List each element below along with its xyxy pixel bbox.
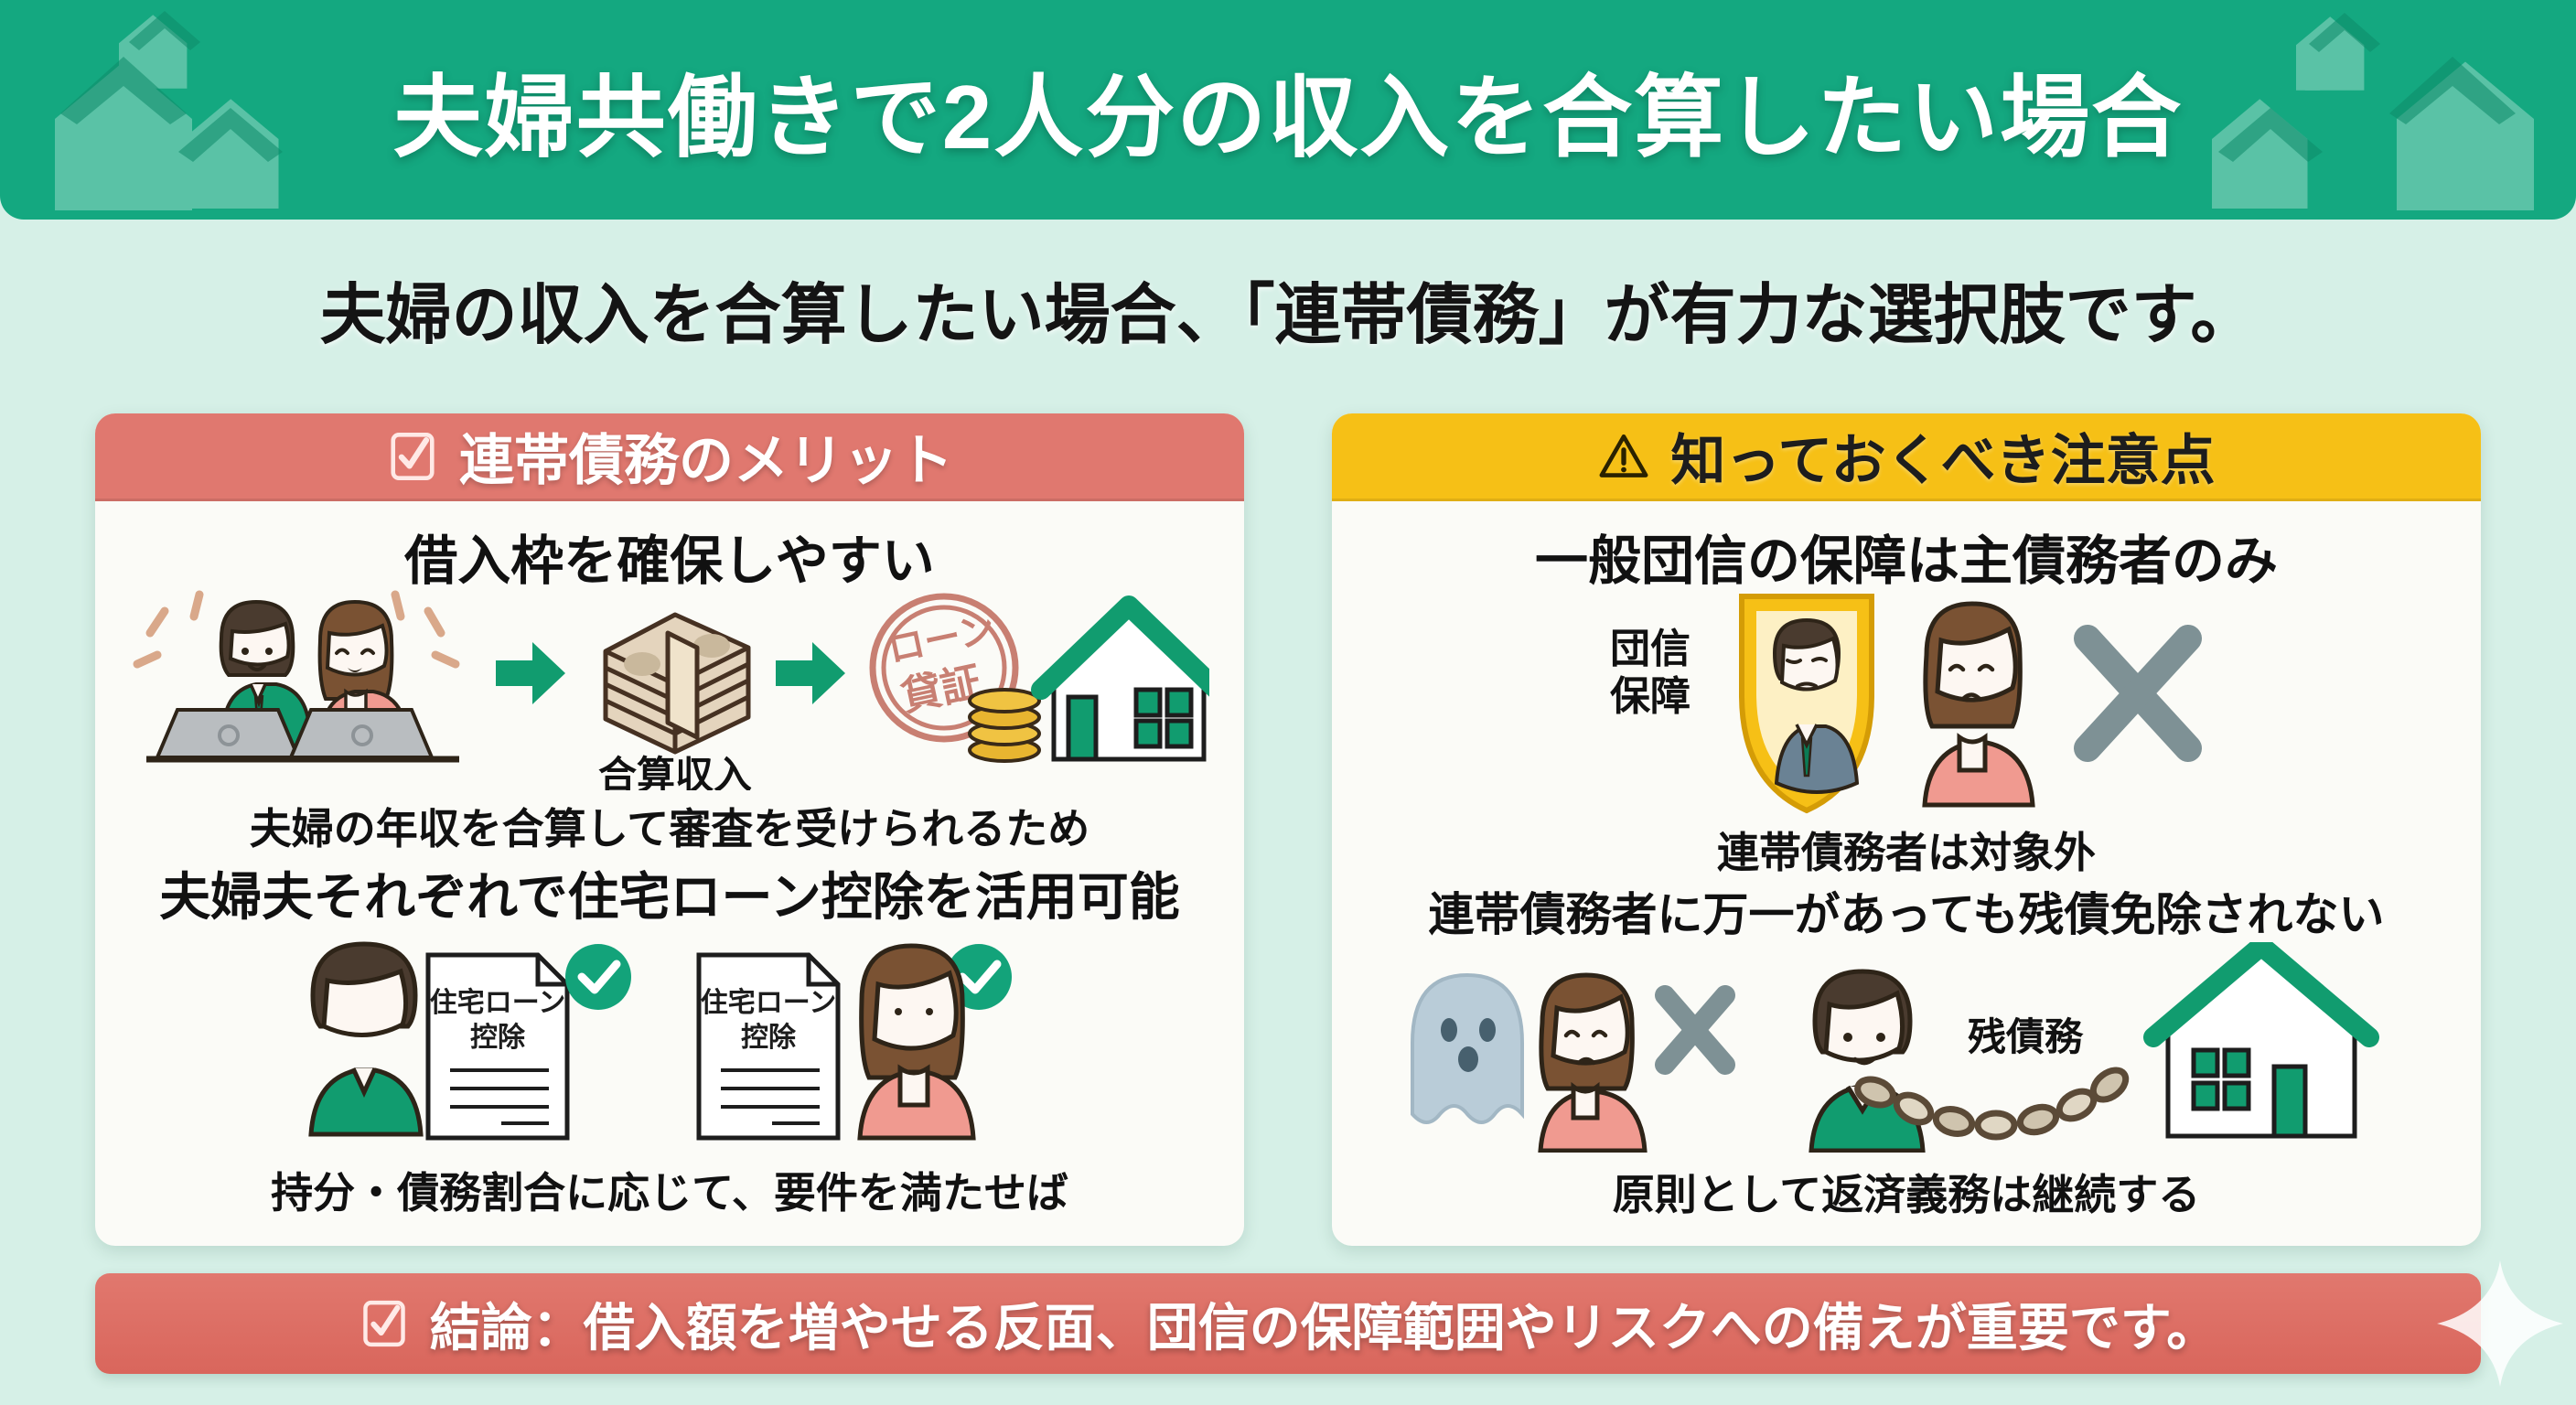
- caution-point-2-illustration: 残債務: [1332, 942, 2481, 1153]
- svg-text:保障: 保障: [1610, 674, 1690, 719]
- header-banner: 夫婦共働きで2人分の収入を合算したい場合: [0, 0, 2576, 220]
- svg-text:貸証: 貸証: [897, 660, 985, 720]
- checkbox-check-icon: [386, 430, 439, 483]
- conclusion-bar: 結論：借入額を増やせる反面、団信の保障範囲やリスクへの備えが重要です。: [95, 1273, 2481, 1374]
- man-chained-icon: [1811, 971, 1923, 1151]
- coins-icon: [970, 690, 1039, 761]
- document-icon: 住宅ローン 控除: [699, 955, 838, 1138]
- merit-point-1-caption: 夫婦の年収を合算して審査を受けられるため: [95, 796, 1244, 856]
- merit-point-1-illustration: ローン 貸証: [95, 580, 1244, 790]
- card-merit-body: 借入枠を確保しやすい: [95, 501, 1244, 1246]
- merit-point-2-caption: 持分・債務割合に応じて、要件を満たせば: [95, 1160, 1244, 1220]
- two-persons-with-deduction-documents-icon: 住宅ローン 控除: [285, 924, 1054, 1153]
- sad-woman-icon: [1925, 604, 2033, 805]
- svg-text:団信: 団信: [1610, 627, 1690, 671]
- house-icon: [1041, 606, 1209, 759]
- ghost-icon: [1412, 975, 1522, 1122]
- caution-point-1-heading: 一般団信の保障は主債務者のみ: [1332, 518, 2481, 595]
- card-merit-header: 連帯債務のメリット: [95, 413, 1244, 501]
- warning-triangle-icon: [1597, 430, 1650, 483]
- merit-point-2-heading: 夫婦夫それぞれで住宅ローン控除を活用可能: [95, 856, 1244, 930]
- house-icon: [2153, 946, 2369, 1136]
- page-title: 夫婦共働きで2人分の収入を合算したい場合: [0, 0, 2576, 220]
- svg-text:合算収入: 合算収入: [598, 754, 752, 790]
- svg-text:控除: 控除: [470, 1022, 526, 1053]
- card-caution-body: 一般団信の保障は主債務者のみ 団信 保障: [1332, 501, 2481, 1246]
- caution-point-1-caption: 連帯債務者は対象外: [1332, 820, 2481, 880]
- document-icon: 住宅ローン 控除: [428, 955, 567, 1138]
- svg-text:ローン: ローン: [885, 608, 999, 670]
- card-caution-header: 知っておくべき注意点: [1332, 413, 2481, 501]
- infographic-root: 夫婦共働きで2人分の収入を合算したい場合 夫婦の収入を合算したい場合、「連帯債務…: [0, 0, 2576, 1405]
- svg-text:住宅ローン: 住宅ローン: [430, 987, 566, 1018]
- caution-point-2-caption: 原則として返済義務は継続する: [1332, 1162, 2481, 1222]
- checkbox-check-icon: [359, 1298, 410, 1349]
- woman-avatar-icon: [860, 946, 973, 1138]
- cross-mark-icon: [1665, 995, 1725, 1065]
- card-caution: 知っておくべき注意点 一般団信の保障は主債務者のみ 団信 保障: [1332, 413, 2481, 1246]
- arrow-right-icon: [776, 642, 845, 704]
- cross-mark-icon: [2088, 638, 2188, 748]
- man-avatar-icon: [311, 944, 421, 1134]
- sparkle-icon: [2431, 1255, 2569, 1392]
- caution-point-2-heading: 連帯債務者に万一があっても残債免除されない: [1332, 878, 2481, 944]
- money-stack-icon: [606, 615, 748, 752]
- couple-laptops-to-house-flow-icon: ローン 貸証: [130, 580, 1209, 790]
- arrow-right-icon: [496, 642, 565, 704]
- svg-text:控除: 控除: [741, 1022, 797, 1053]
- caution-point-1-illustration: 団信 保障: [1332, 585, 2481, 814]
- shield-with-man-icon: [1742, 596, 1872, 810]
- subtitle-text: 夫婦の収入を合算したい場合、「連帯債務」が有力な選択肢です。: [0, 261, 2576, 357]
- conclusion-text: 結論：借入額を増やせる反面、団信の保障範囲やリスクへの備えが重要です。: [430, 1287, 2217, 1361]
- merit-point-2-illustration: 住宅ローン 控除: [95, 924, 1244, 1153]
- svg-text:住宅ローン: 住宅ローン: [701, 987, 837, 1018]
- sad-woman-icon: [1540, 975, 1645, 1151]
- check-circle-icon: [565, 944, 631, 1010]
- ghost-chain-remaining-debt-icon: 残債務: [1385, 942, 2428, 1153]
- card-caution-header-label: 知っておくべき注意点: [1670, 416, 2215, 496]
- svg-text:残債務: 残債務: [1968, 1015, 2084, 1058]
- card-merit: 連帯債務のメリット 借入枠を確保しやすい: [95, 413, 1244, 1246]
- card-merit-header-label: 連帯債務のメリット: [459, 416, 953, 496]
- shield-protects-main-debtor-only-icon: 団信 保障: [1513, 585, 2300, 814]
